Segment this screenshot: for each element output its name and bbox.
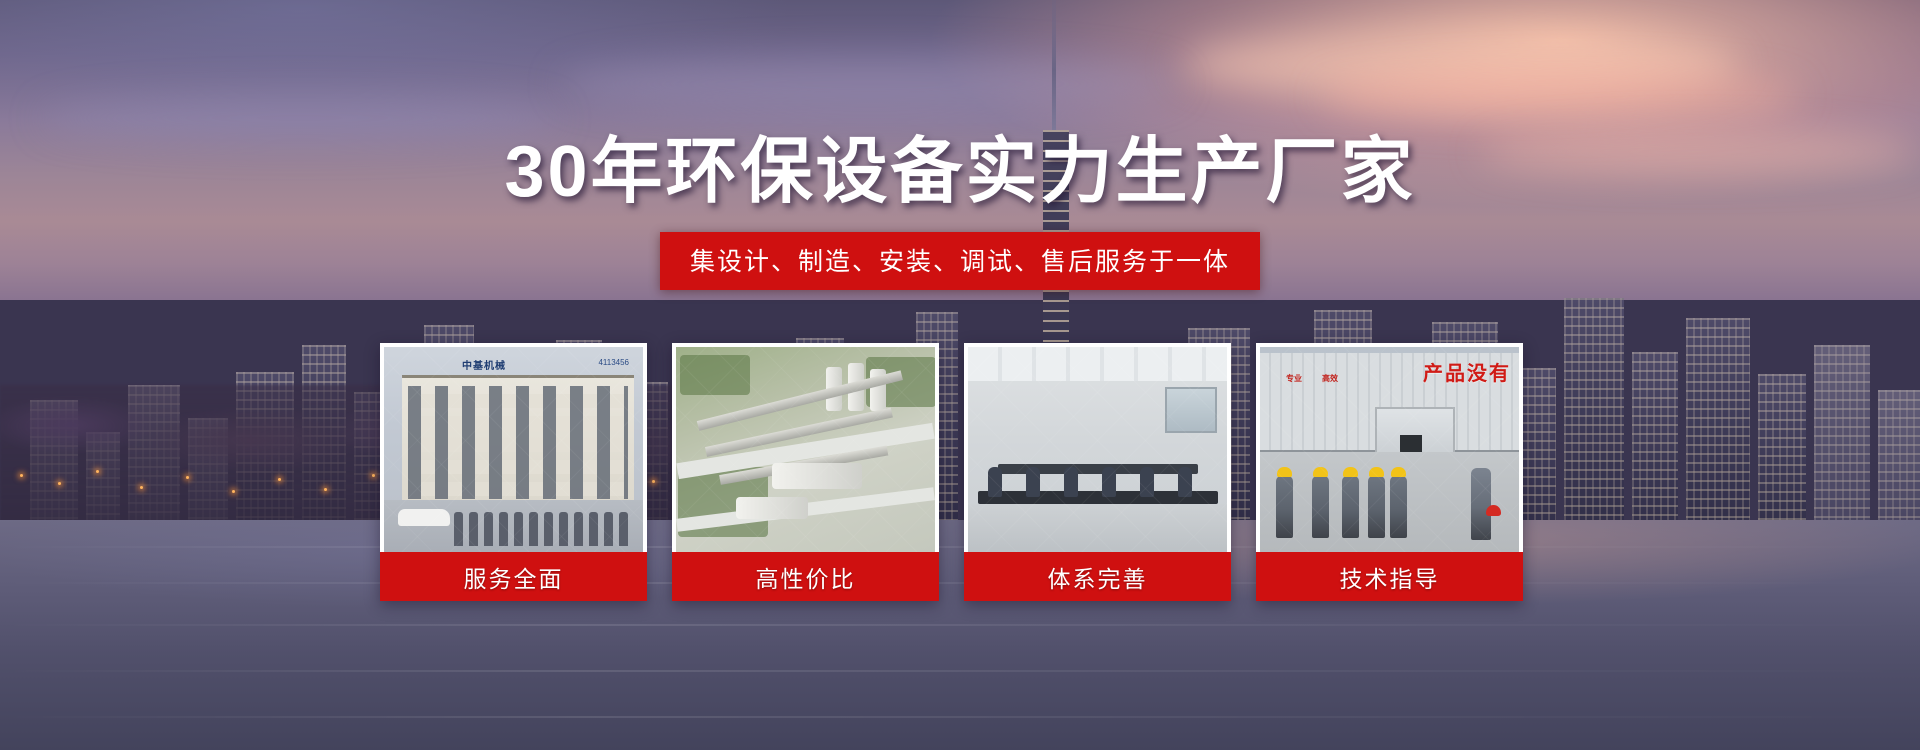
office-floor: [968, 504, 1227, 552]
hero-banner: 30年环保设备实力生产厂家 集设计、制造、安装、调试、售后服务于一体 中基机械 …: [0, 0, 1920, 750]
subtitle-banner: 集设计、制造、安装、调试、售后服务于一体: [660, 232, 1260, 290]
building-sign-label: 中基机械: [462, 357, 506, 372]
building-sign-secondary: 4113456: [598, 358, 629, 367]
page-title: 30年环保设备实力生产厂家: [0, 112, 1920, 217]
staff-lineup: [454, 508, 643, 546]
feature-card[interactable]: 产品没有 专业 高效 技术指导: [1256, 343, 1523, 601]
tower-spire: [1052, 0, 1056, 130]
feature-card[interactable]: 体系完善: [964, 343, 1231, 601]
factory-sign-label: 产品没有: [1423, 357, 1511, 386]
parked-car: [398, 509, 450, 526]
office-interior-team-photo: [968, 347, 1227, 552]
aerial-production-plant-photo: [676, 347, 935, 552]
office-window: [1165, 387, 1217, 433]
building-facade: [402, 375, 634, 503]
company-headquarters-photo: 中基机械 4113456: [384, 347, 643, 552]
factory-workers-briefing-photo: 产品没有 专业 高效: [1260, 347, 1519, 552]
feature-card-label: 体系完善: [964, 552, 1231, 601]
building-block: [1564, 298, 1624, 550]
office-ceiling: [968, 347, 1227, 381]
red-helmet-icon: [1486, 505, 1501, 516]
feature-card-label: 技术指导: [1256, 552, 1523, 601]
building-block: [1686, 318, 1750, 550]
factory-slogan: 高效: [1322, 373, 1338, 384]
feature-card-label: 高性价比: [672, 552, 939, 601]
feature-card-label: 服务全面: [380, 552, 647, 601]
supervisor-figure: [1471, 468, 1491, 540]
feature-card[interactable]: 中基机械 4113456 服务全面: [380, 343, 647, 601]
factory-slogan: 专业: [1286, 373, 1302, 384]
cloud-shape: [560, 55, 1180, 113]
feature-card[interactable]: 高性价比: [672, 343, 939, 601]
feature-card-list: 中基机械 4113456 服务全面: [380, 343, 1540, 603]
